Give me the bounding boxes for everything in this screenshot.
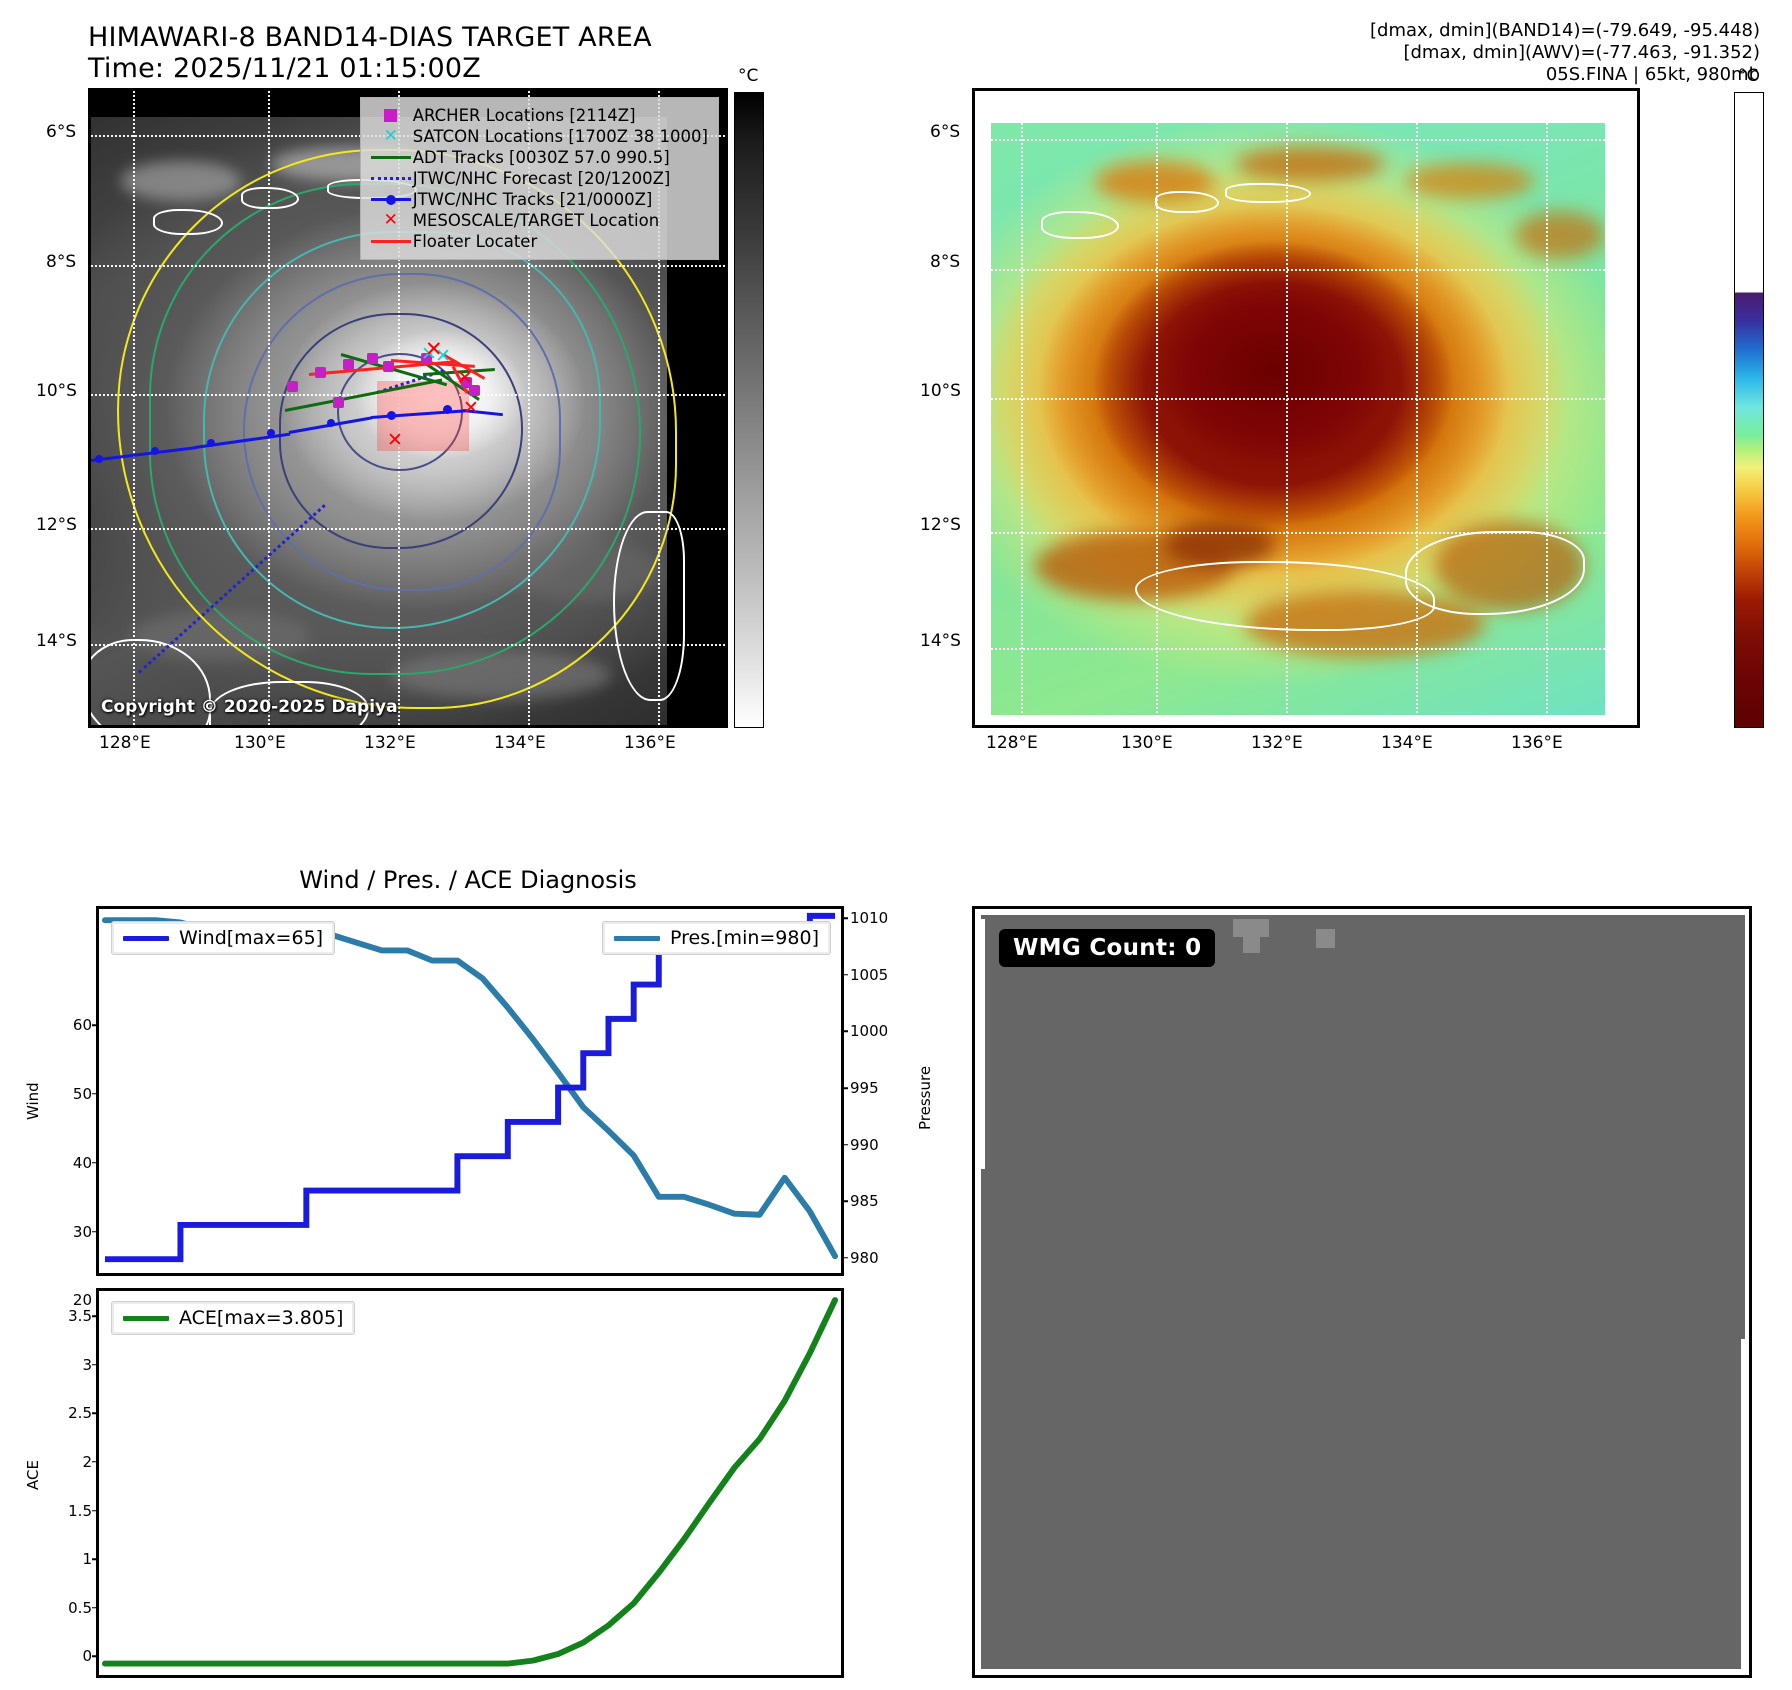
legend-label: Floater Locater <box>413 231 538 252</box>
jtwc-track-point <box>267 429 275 437</box>
red-line-icon <box>369 240 413 243</box>
blue-dotted-line-icon <box>369 177 413 180</box>
pressure-legend: Pres.[min=980] <box>602 921 831 955</box>
pressure-ytick-980: 980 <box>850 1249 879 1267</box>
ir-satellite-map[interactable]: ✕ ✕ ✕ ✕ ✕ ✕ ARCHER Locations [2114Z] ✕ S… <box>88 88 728 728</box>
ace-ytick-2-0: 2 <box>82 1453 92 1471</box>
latitude-gridline-8s <box>975 269 1637 271</box>
page-title-line2: Time: 2025/11/21 01:15:00Z <box>88 53 481 84</box>
ace-ytick-0-5: 0.5 <box>68 1599 92 1617</box>
ir-lon-tick-134e: 134°E <box>494 733 546 753</box>
ir-colorbar <box>734 92 764 728</box>
ir-colorbar-title: °C <box>738 66 758 86</box>
mesoscale-target-marker: ✕ <box>457 367 473 389</box>
jtwc-track-point <box>151 447 159 455</box>
ace-ytick-2-5: 2.5 <box>68 1404 92 1422</box>
legend-row-mesoscale: ✕ MESOSCALE/TARGET Location <box>369 210 708 231</box>
jtwc-track-point <box>443 405 452 414</box>
archer-location-marker <box>343 359 354 370</box>
wind-ytick-60: 60 <box>73 1016 92 1034</box>
ace-ytick-3-0: 3 <box>82 1356 92 1374</box>
header-storm-id: 05S.FINA | 65kt, 980mb <box>1060 64 1760 85</box>
pressure-ytick-995: 995 <box>850 1079 879 1097</box>
wind-ytick-40: 40 <box>73 1154 92 1172</box>
legend-row-adt: ADT Tracks [0030Z 57.0 990.5] <box>369 147 708 168</box>
awv-image <box>975 91 1637 725</box>
ir-image: ✕ ✕ ✕ ✕ ✕ ✕ ARCHER Locations [2114Z] ✕ S… <box>91 91 725 725</box>
coastline-island-n <box>241 187 299 209</box>
pressure-axis-title: Pressure <box>916 1040 934 1130</box>
legend-row-jtwc-forecast: JTWC/NHC Forecast [20/1200Z] <box>369 168 708 189</box>
coastline-island-nw <box>1041 211 1119 239</box>
legend-row-floater: Floater Locater <box>369 231 708 252</box>
ir-lat-tick-12s: 12°S <box>36 515 77 535</box>
ir-lat-tick-10s: 10°S <box>36 381 77 401</box>
awv-lat-tick-6s: 6°S <box>930 122 960 142</box>
legend-label: MESOSCALE/TARGET Location <box>413 210 659 231</box>
pressure-series <box>105 920 835 1256</box>
pressure-ytick-1010: 1010 <box>850 909 888 927</box>
ace-legend: ACE[max=3.805] <box>111 1301 355 1335</box>
latitude-gridline-12s <box>975 532 1637 534</box>
legend-row-jtwc-tracks: JTWC/NHC Tracks [21/0000Z] <box>369 189 708 210</box>
mesoscale-target-marker: ✕ <box>387 429 403 451</box>
ir-lat-tick-8s: 8°S <box>46 252 76 272</box>
page-title-line1: HIMAWARI-8 BAND14-DIAS TARGET AREA <box>88 22 652 53</box>
header-dmax-band14: [dmax, dmin](BAND14)=(-79.649, -95.448) <box>1060 20 1760 41</box>
longitude-gridline-130e <box>268 91 270 725</box>
awv-lat-tick-12s: 12°S <box>920 515 961 535</box>
legend-row-archer: ARCHER Locations [2114Z] <box>369 105 708 126</box>
jtwc-track-point <box>387 411 396 420</box>
wmg-tile <box>1243 937 1260 953</box>
latitude-gridline-8s <box>91 265 725 267</box>
ace-ytick-3-5: 3.5 <box>68 1307 92 1325</box>
ir-lat-tick-6s: 6°S <box>46 122 76 142</box>
awv-colorbar-title: °C <box>1738 66 1758 86</box>
coastline-island-n <box>1155 191 1219 213</box>
longitude-gridline-136e <box>1546 91 1548 725</box>
ace-line <box>99 1291 841 1675</box>
ir-lon-tick-132e: 132°E <box>364 733 416 753</box>
jtwc-track-point <box>95 455 103 463</box>
ir-lon-tick-130e: 130°E <box>234 733 286 753</box>
wind-pressure-chart[interactable]: 60 50 40 30 20 1010 1005 1000 995 990 98… <box>96 906 844 1276</box>
longitude-gridline-128e <box>1021 91 1023 725</box>
awv-colorbar <box>1734 92 1764 728</box>
pressure-ytick-990: 990 <box>850 1136 879 1154</box>
pressure-legend-label: Pres.[min=980] <box>670 927 819 949</box>
wmg-tile <box>1316 929 1335 948</box>
copyright-notice: Copyright © 2020-2025 Dapiya <box>101 697 398 717</box>
legend-row-satcon: ✕ SATCON Locations [1700Z 38 1000] <box>369 126 708 147</box>
wind-axis-title: Wind <box>24 1030 42 1120</box>
awv-lon-tick-128e: 128°E <box>986 733 1038 753</box>
green-line-icon <box>369 156 413 159</box>
wmg-count-badge: WMG Count: 0 <box>999 929 1215 967</box>
pressure-legend-swatch <box>614 936 660 941</box>
awv-lon-tick-130e: 130°E <box>1121 733 1173 753</box>
ir-lon-tick-136e: 136°E <box>624 733 676 753</box>
archer-location-marker <box>383 361 394 372</box>
wind-legend-label: Wind[max=65] <box>179 927 323 949</box>
wmg-panel[interactable]: WMG Count: 0 <box>972 906 1752 1678</box>
archer-location-marker <box>287 381 298 392</box>
cyan-x-icon: ✕ <box>369 128 413 145</box>
latitude-gridline-12s <box>91 528 725 530</box>
ace-chart[interactable]: 3.5 3 2.5 2 1.5 1 0.5 0 ACE[max=3.805] <box>96 1288 844 1678</box>
wind-pressure-lines <box>99 909 841 1273</box>
header-dmax-awv: [dmax, dmin](AWV)=(-77.463, -91.352) <box>1060 42 1760 63</box>
coastline-island-nw <box>153 209 223 235</box>
wind-legend: Wind[max=65] <box>111 921 335 955</box>
awv-lon-tick-136e: 136°E <box>1511 733 1563 753</box>
ace-legend-swatch <box>123 1316 169 1321</box>
latitude-gridline-14s <box>91 644 725 646</box>
latitude-gridline-6s <box>975 139 1637 141</box>
coastline-landmass-se <box>613 511 685 701</box>
legend-label: JTWC/NHC Forecast [20/1200Z] <box>413 168 671 189</box>
coastline-island-ne <box>1225 183 1311 203</box>
ir-lon-tick-128e: 128°E <box>99 733 151 753</box>
pressure-ytick-985: 985 <box>850 1192 879 1210</box>
wind-legend-swatch <box>123 936 169 941</box>
ace-plot-area: 3.5 3 2.5 2 1.5 1 0.5 0 ACE[max=3.805] <box>99 1291 841 1675</box>
ace-axis-title: ACE <box>24 1430 42 1490</box>
magenta-square-icon <box>369 109 413 122</box>
archer-location-marker <box>367 353 378 364</box>
awv-lon-tick-132e: 132°E <box>1251 733 1303 753</box>
ir-lat-tick-14s: 14°S <box>36 631 77 651</box>
wmg-tile <box>1233 919 1269 937</box>
pressure-ytick-1005: 1005 <box>850 966 888 984</box>
wind-ytick-50: 50 <box>73 1085 92 1103</box>
awv-lat-tick-14s: 14°S <box>920 631 961 651</box>
legend-label: ADT Tracks [0030Z 57.0 990.5] <box>413 147 670 168</box>
blue-line-marker-icon <box>369 198 413 201</box>
awv-lat-tick-8s: 8°S <box>930 252 960 272</box>
longitude-gridline-128e <box>133 91 135 725</box>
latitude-gridline-14s <box>975 648 1637 650</box>
ace-legend-label: ACE[max=3.805] <box>179 1307 343 1329</box>
legend-label: ARCHER Locations [2114Z] <box>413 105 636 126</box>
legend-label: SATCON Locations [1700Z 38 1000] <box>413 126 708 147</box>
diagnosis-title: Wind / Pres. / ACE Diagnosis <box>88 866 848 894</box>
wmg-canvas: WMG Count: 0 <box>981 915 1745 1669</box>
wmg-left-strip <box>981 919 985 1169</box>
wind-pressure-plot-area: 60 50 40 30 20 1010 1005 1000 995 990 98… <box>99 909 841 1273</box>
mesoscale-target-marker: ✕ <box>425 337 443 361</box>
awv-satellite-map[interactable] <box>972 88 1640 728</box>
archer-location-marker <box>333 397 344 408</box>
ace-ytick-0-0: 0 <box>82 1647 92 1665</box>
longitude-gridline-132e <box>1286 91 1288 725</box>
pressure-ytick-1000: 1000 <box>850 1022 888 1040</box>
red-x-icon: ✕ <box>369 212 413 229</box>
latitude-gridline-10s <box>975 398 1637 400</box>
ace-ytick-1-0: 1 <box>82 1550 92 1568</box>
archer-location-marker <box>315 367 326 378</box>
longitude-gridline-134e <box>1416 91 1418 725</box>
mesoscale-target-marker: ✕ <box>463 397 479 419</box>
wind-ytick-30: 30 <box>73 1223 92 1241</box>
jtwc-track-point <box>207 439 215 447</box>
ir-map-legend: ARCHER Locations [2114Z] ✕ SATCON Locati… <box>360 97 719 260</box>
awv-lon-tick-134e: 134°E <box>1381 733 1433 753</box>
legend-label: JTWC/NHC Tracks [21/0000Z] <box>413 189 653 210</box>
ace-series <box>105 1300 835 1664</box>
longitude-gridline-130e <box>1156 91 1158 725</box>
wmg-right-strip <box>1741 1339 1745 1669</box>
ace-ytick-1-5: 1.5 <box>68 1502 92 1520</box>
awv-lat-tick-10s: 10°S <box>920 381 961 401</box>
jtwc-track-point <box>327 419 335 427</box>
dashboard-root: HIMAWARI-8 BAND14-DIAS TARGET AREA Time:… <box>0 0 1792 1690</box>
